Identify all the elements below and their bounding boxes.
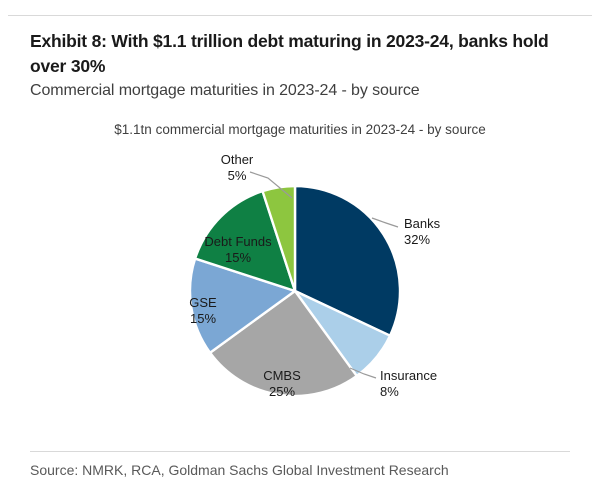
pie-label-cmbs: CMBS 25% [234,368,330,400]
pie-label-insurance: Insurance 8% [380,368,476,400]
pie-label-banks-value: 32% [404,232,484,248]
source-divider [30,451,570,452]
pie-label-cmbs-value: 25% [234,384,330,400]
pie-label-debt-funds: Debt Funds 15% [178,234,298,266]
pie-chart: $1.1tn commercial mortgage maturities in… [0,110,600,440]
pie-label-banks-name: Banks [404,216,440,231]
pie-label-insurance-value: 8% [380,384,476,400]
exhibit-subtitle: Commercial mortgage maturities in 2023-2… [30,80,570,102]
pie-label-debt-funds-value: 15% [178,250,298,266]
top-divider [8,15,592,16]
pie-label-other-value: 5% [196,168,278,184]
pie-label-insurance-name: Insurance [380,368,437,383]
pie-label-debt-funds-name: Debt Funds [204,234,271,249]
pie-label-gse-value: 15% [168,311,238,327]
pie-label-gse-name: GSE [189,295,216,310]
pie-label-banks: Banks 32% [404,216,484,248]
pie-label-other-name: Other [221,152,254,167]
source-note: Source: NMRK, RCA, Goldman Sachs Global … [30,462,570,478]
pie-label-gse: GSE 15% [168,295,238,327]
exhibit-title: Exhibit 8: With $1.1 trillion debt matur… [30,29,570,79]
pie-label-cmbs-name: CMBS [263,368,301,383]
pie-slices-real [190,186,400,396]
pie-label-other: Other 5% [196,152,278,184]
